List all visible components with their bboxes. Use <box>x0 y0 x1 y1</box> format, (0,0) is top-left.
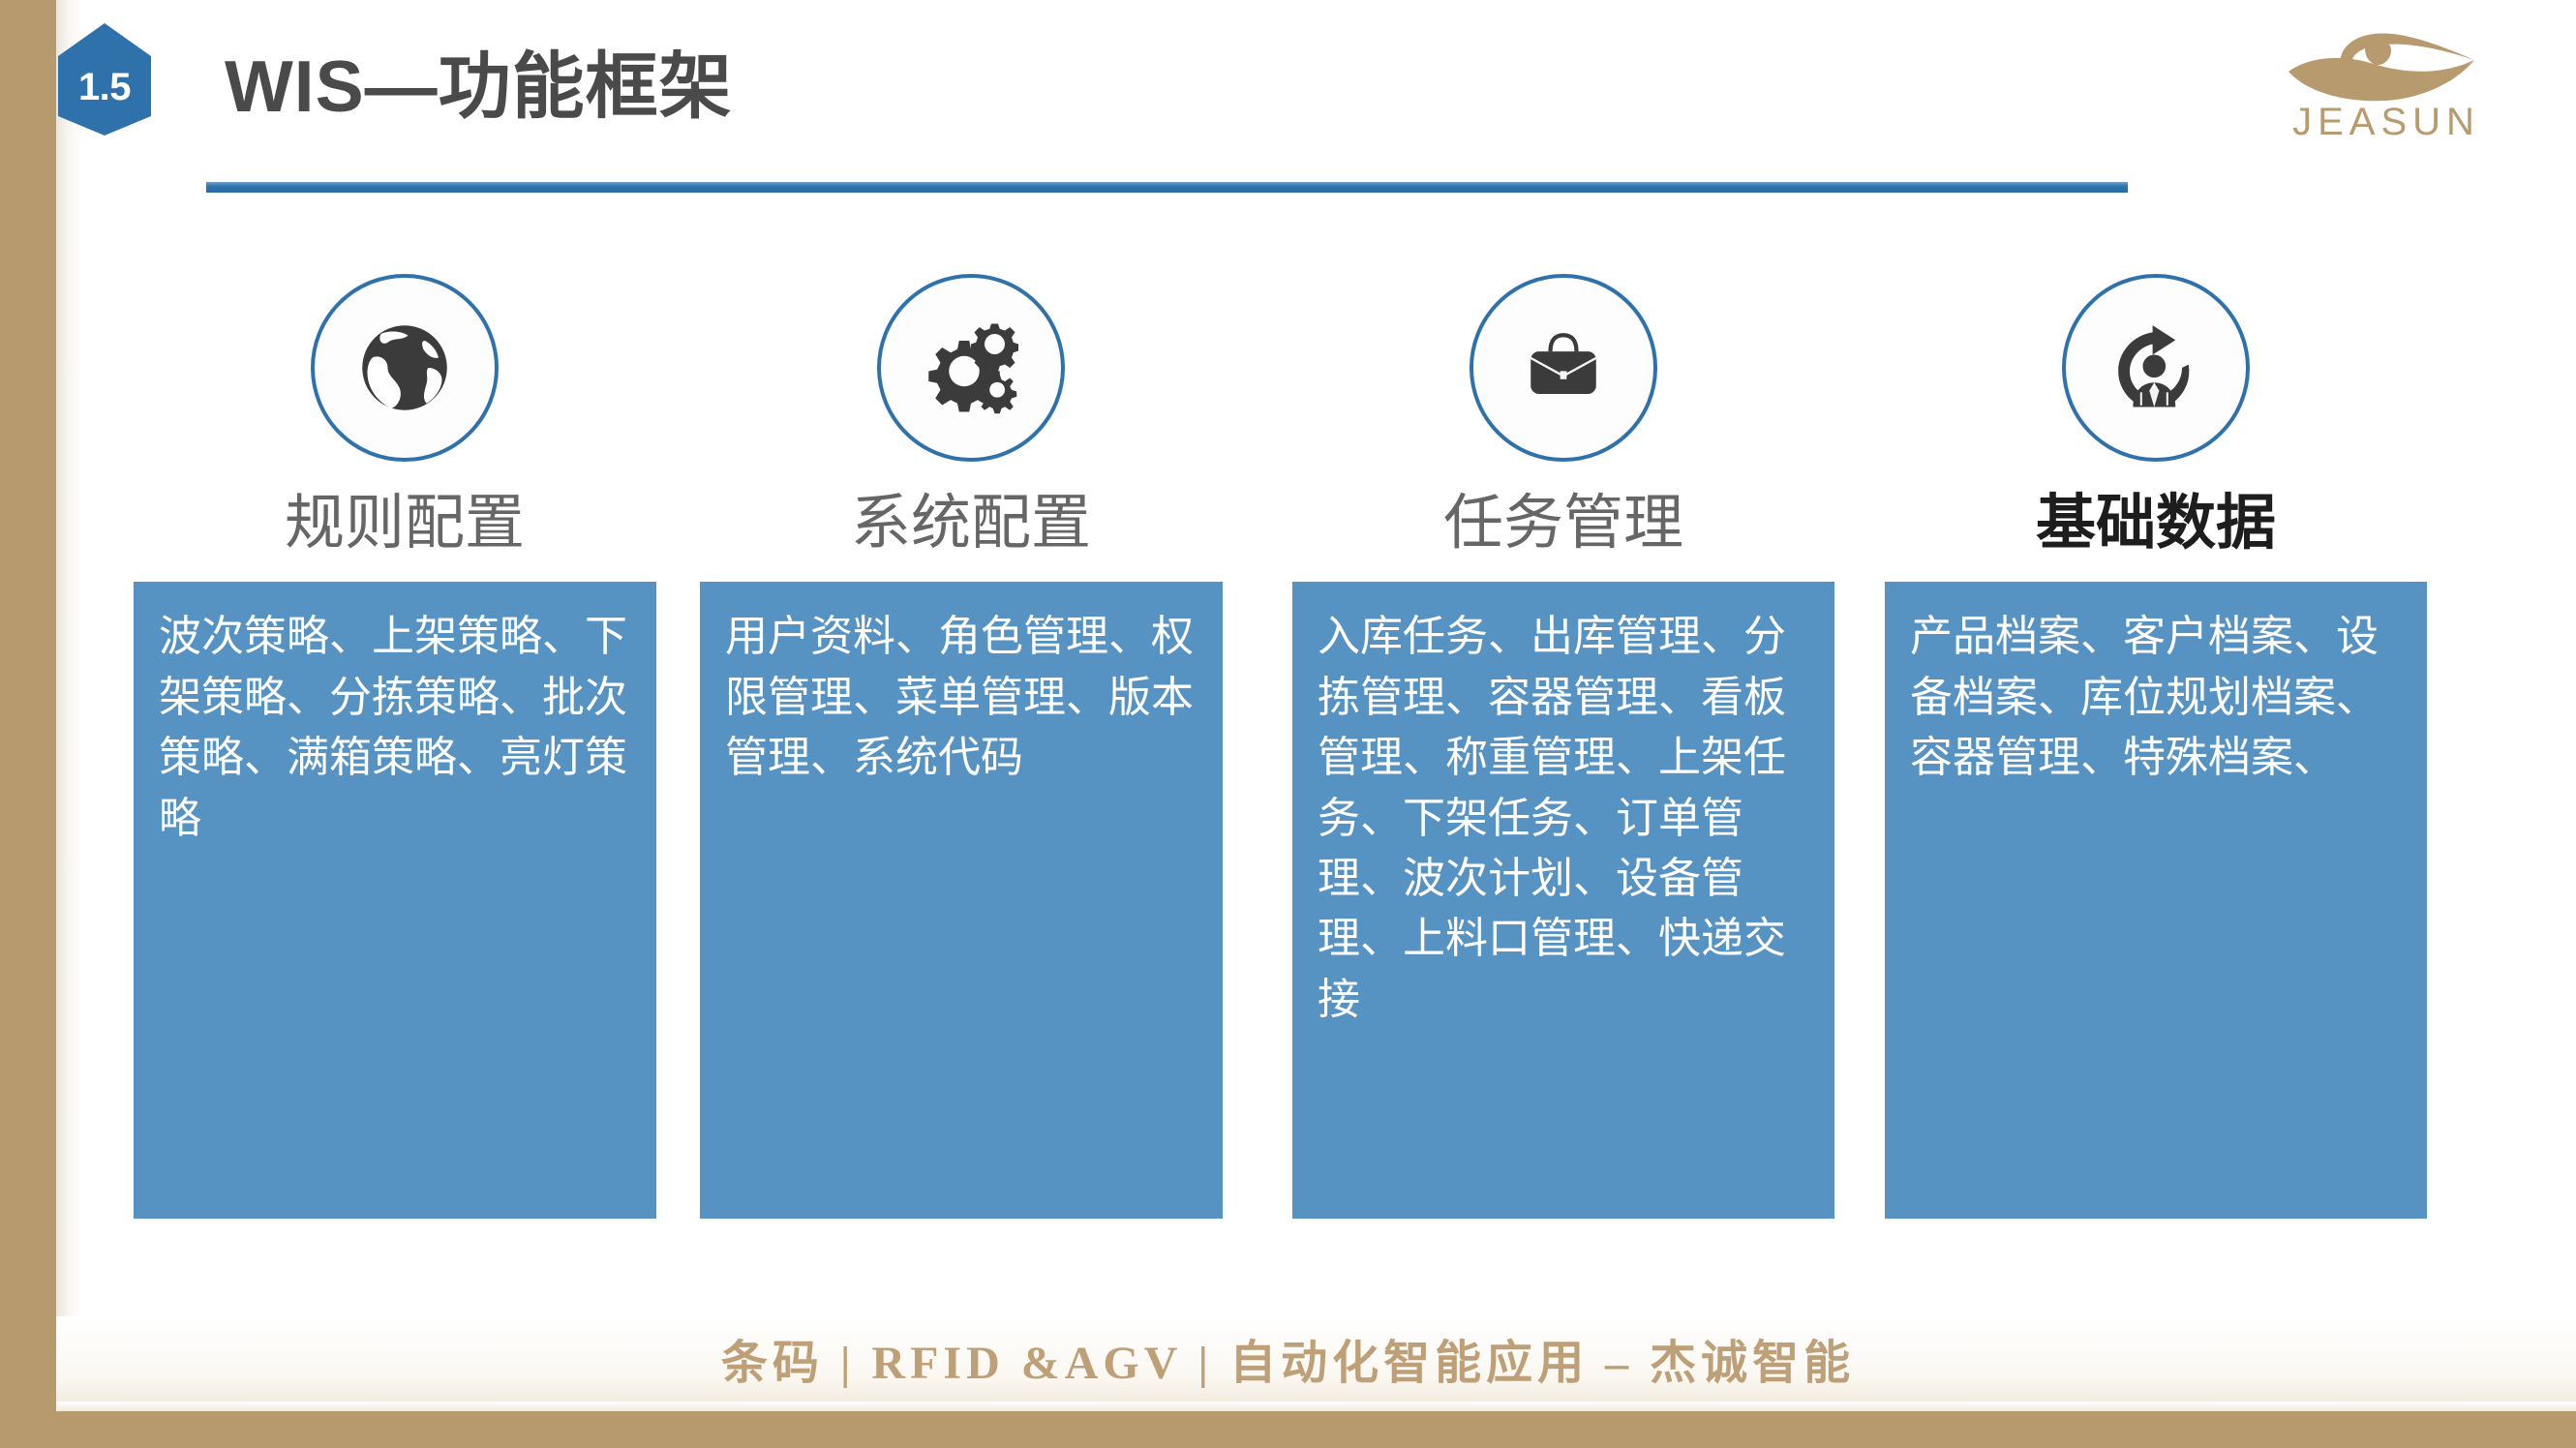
feature-detail-box: 入库任务、出库管理、分拣管理、容器管理、看板管理、称重管理、上架任务、下架任务、… <box>1292 582 1834 1219</box>
feature-column-rule-config: 规则配置 波次策略、上架策略、下架策略、分拣策略、批次策略、满箱策略、亮灯策略 <box>134 271 676 1219</box>
swoosh-logo-icon <box>2285 21 2488 106</box>
icon-container <box>134 271 676 465</box>
feature-column-heading: 规则配置 <box>134 492 676 555</box>
feature-column-heading: 系统配置 <box>700 492 1242 555</box>
title-underline-rule <box>206 182 2128 193</box>
footer-tagline: 条码 | RFID &AGV | 自动化智能应用 – 杰诚智能 <box>0 1324 2576 1392</box>
icon-container <box>700 271 1242 465</box>
slide-canvas: 1.5 WIS—功能框架 JEASUN <box>0 0 2576 1448</box>
feature-column-task-management: 任务管理 入库任务、出库管理、分拣管理、容器管理、看板管理、称重管理、上架任务、… <box>1292 271 1834 1219</box>
globe-icon <box>311 274 499 462</box>
feature-column-heading: 任务管理 <box>1292 492 1834 555</box>
person-cycle-icon <box>2062 274 2250 462</box>
gears-icon <box>877 274 1065 462</box>
slide-frame-left-inner <box>56 0 81 1411</box>
feature-detail-box: 用户资料、角色管理、权限管理、菜单管理、版本管理、系统代码 <box>700 582 1223 1219</box>
feature-column-system-config: 系统配置 用户资料、角色管理、权限管理、菜单管理、版本管理、系统代码 <box>700 271 1242 1219</box>
slide-frame-left-band <box>0 0 56 1448</box>
feature-detail-box: 波次策略、上架策略、下架策略、分拣策略、批次策略、满箱策略、亮灯策略 <box>134 582 656 1219</box>
feature-detail-box: 产品档案、客户档案、设备档案、库位规划档案、 容器管理、特殊档案、 <box>1885 582 2427 1219</box>
feature-column-master-data: 基础数据 产品档案、客户档案、设备档案、库位规划档案、 容器管理、特殊档案、 <box>1885 271 2427 1219</box>
brand-wordmark: JEASUN <box>2256 101 2517 144</box>
brand-logo: JEASUN <box>2256 21 2517 147</box>
icon-container <box>1885 271 2427 465</box>
section-number-label: 1.5 <box>55 19 154 139</box>
page-title: WIS—功能框架 <box>225 27 733 133</box>
slide-frame-bottom-band <box>0 1411 2576 1448</box>
briefcase-icon <box>1470 274 1657 462</box>
feature-column-heading: 基础数据 <box>1885 492 2427 555</box>
icon-container <box>1292 271 1834 465</box>
feature-columns: 规则配置 波次策略、上架策略、下架策略、分拣策略、批次策略、满箱策略、亮灯策略 <box>81 271 2501 1345</box>
slide-frame-bottom-inner <box>56 1402 2576 1411</box>
